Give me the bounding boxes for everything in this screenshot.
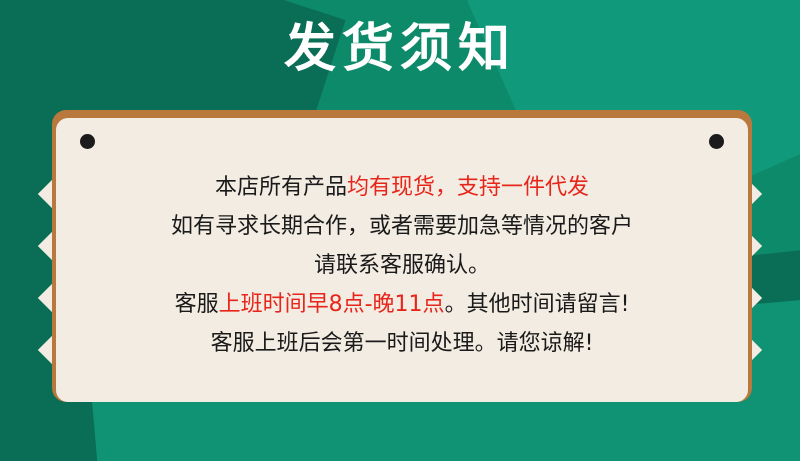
notice-text-highlight: 均有现货，支持一件代发 — [347, 175, 589, 200]
notice-text-plain: 如有寻求长期合作，或者需要加急等情况的客户 — [171, 214, 633, 239]
notice-line: 本店所有产品均有现货，支持一件代发 — [56, 168, 748, 207]
notice-card-body: 本店所有产品均有现货，支持一件代发如有寻求长期合作，或者需要加急等情况的客户请联… — [56, 118, 748, 402]
notice-text-plain: 客服上班后会第一时间处理。请您谅解! — [211, 331, 594, 356]
notice-card: 本店所有产品均有现货，支持一件代发如有寻求长期合作，或者需要加急等情况的客户请联… — [52, 110, 752, 402]
notice-text-plain: 请联系客服确认。 — [314, 253, 490, 278]
notice-line: 客服上班后会第一时间处理。请您谅解! — [56, 324, 748, 363]
notice-line: 客服上班时间早8点-晚11点。其他时间请留言! — [56, 285, 748, 324]
notice-text-highlight: 上班时间早8点-晚11点 — [219, 292, 445, 317]
notice-line: 如有寻求长期合作，或者需要加急等情况的客户 — [56, 207, 748, 246]
page-title: 发货须知 — [0, 18, 800, 80]
notice-banner: 发货须知 本店所有产品均有现货，支持一件代发如有寻求长期合作，或者需要加急等情况… — [0, 0, 800, 461]
notice-text-block: 本店所有产品均有现货，支持一件代发如有寻求长期合作，或者需要加急等情况的客户请联… — [56, 168, 748, 363]
corner-dot-top-left — [80, 134, 95, 149]
notice-line: 请联系客服确认。 — [56, 246, 748, 285]
corner-dot-top-right — [709, 134, 724, 149]
notice-text-plain: 客服 — [175, 292, 219, 317]
notice-text-plain: 本店所有产品 — [215, 175, 347, 200]
notice-text-plain: 。其他时间请留言! — [445, 292, 630, 317]
